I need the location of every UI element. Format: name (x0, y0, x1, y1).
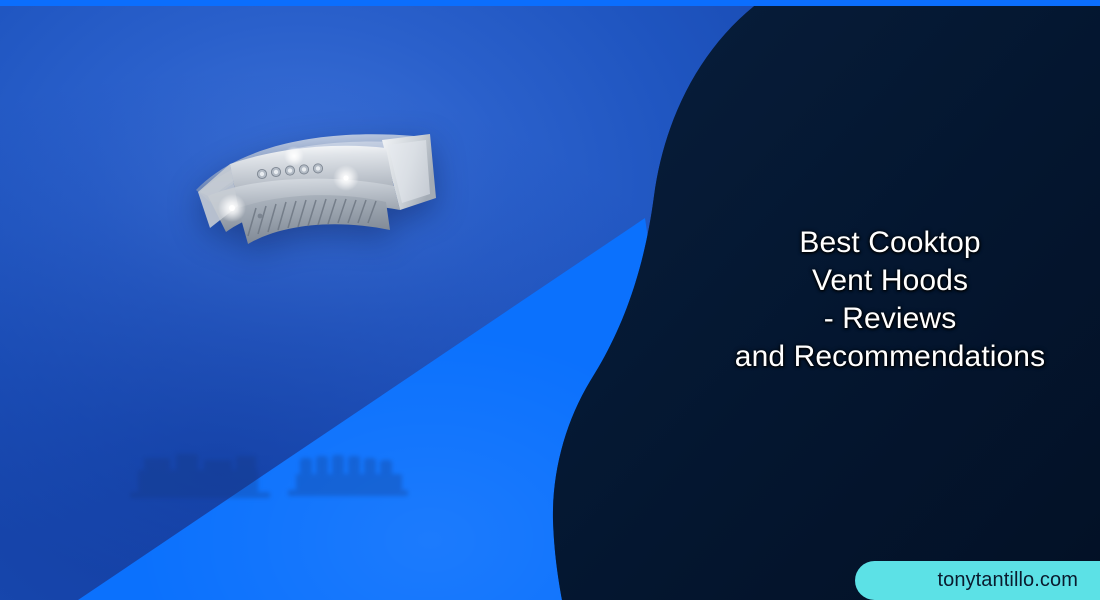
range-hood-product-image (186, 112, 452, 280)
site-watermark: tonytantillo.com (855, 561, 1100, 600)
watermark-label: tonytantillo.com (855, 561, 1100, 600)
title-line-1: Best Cooktop (690, 224, 1090, 262)
top-accent-strip (0, 0, 1100, 6)
title-line-3: - Reviews (690, 300, 1090, 338)
page-title: Best Cooktop Vent Hoods - Reviews and Re… (690, 224, 1090, 376)
title-line-2: Vent Hoods (690, 262, 1090, 300)
title-line-4: and Recommendations (690, 338, 1090, 376)
article-hero-banner: Best Cooktop Vent Hoods - Reviews and Re… (0, 0, 1100, 600)
